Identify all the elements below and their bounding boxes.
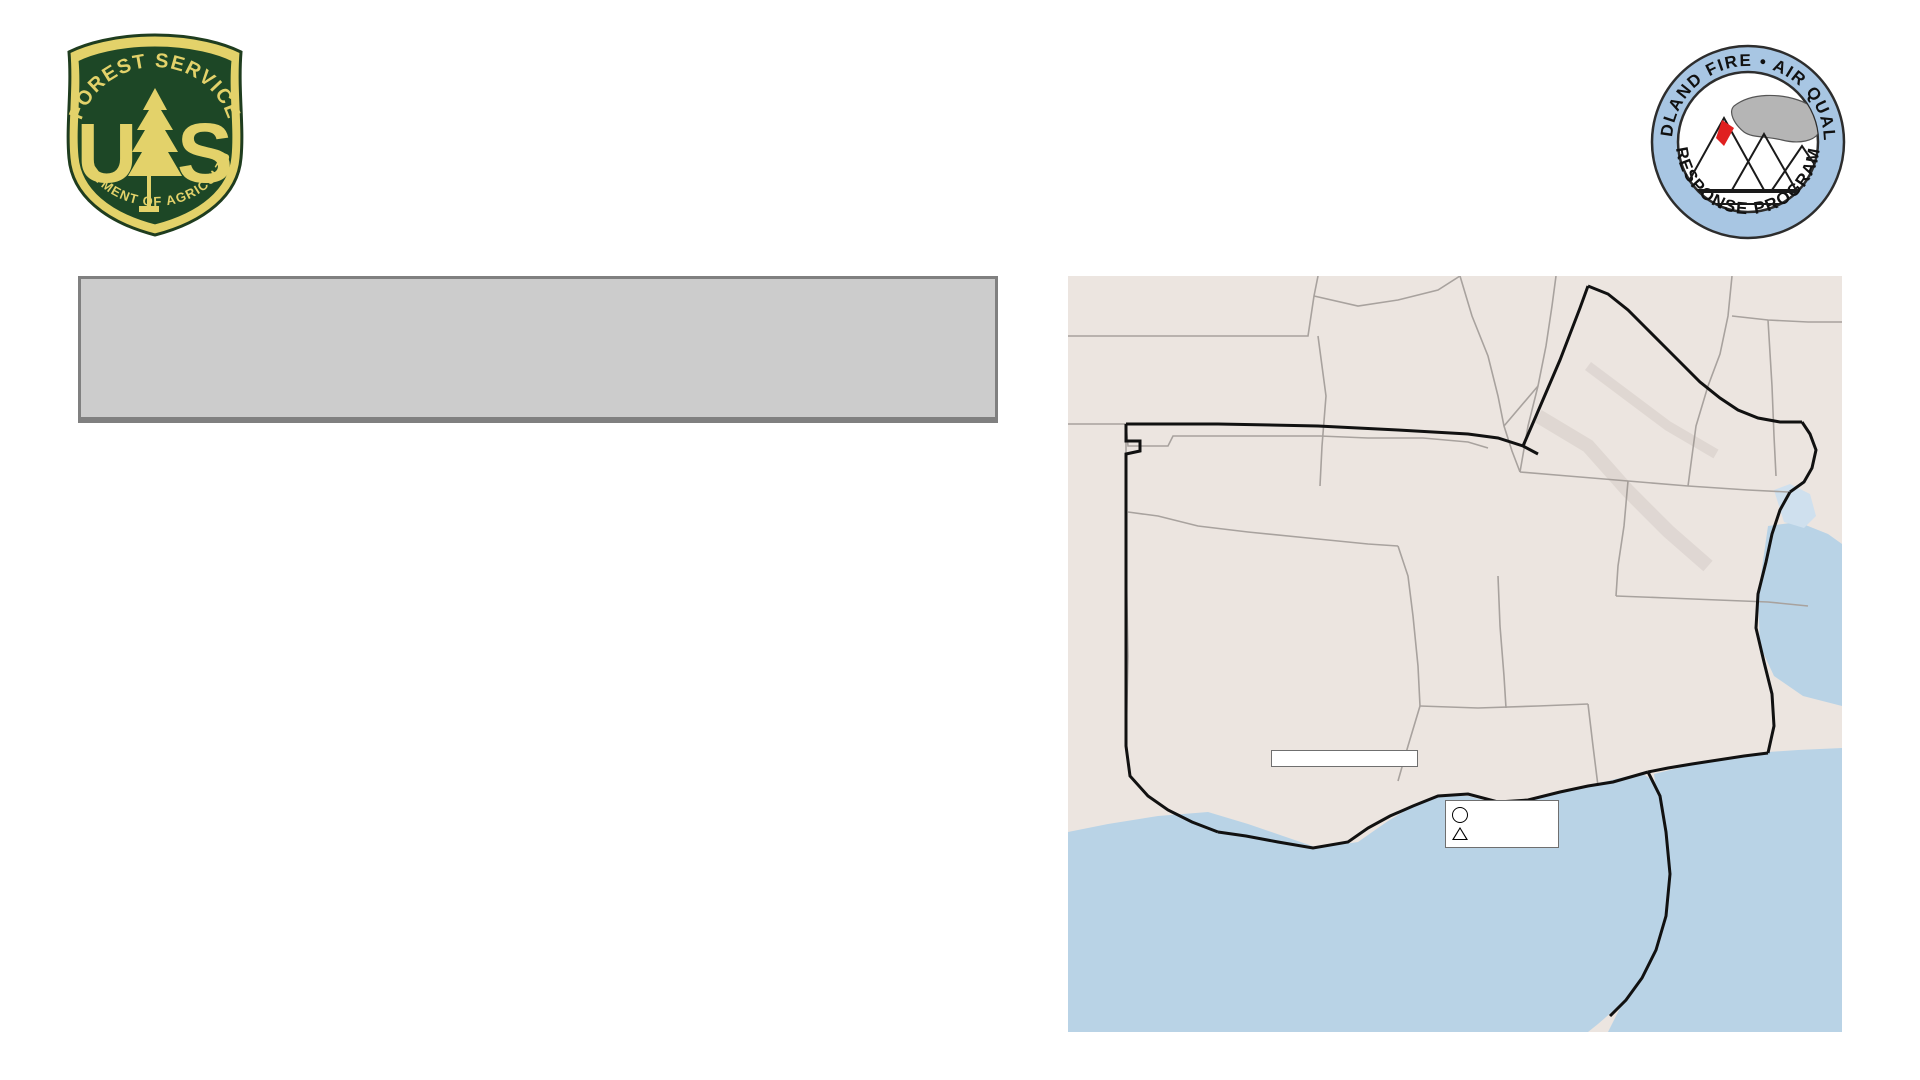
usfs-letter-s: S xyxy=(177,106,233,200)
top-nowcast-table xyxy=(78,276,998,423)
temporary-site-icon xyxy=(1452,807,1468,823)
usfs-logo: FOREST SERVICE DEPARTMENT OF AGRICULTURE… xyxy=(55,30,255,240)
legend-permanent xyxy=(1452,824,1552,843)
aqi-legend xyxy=(1271,750,1418,767)
map-canvas xyxy=(1068,276,1842,1032)
slide-root: FOREST SERVICE DEPARTMENT OF AGRICULTURE… xyxy=(0,0,1920,1080)
permanent-site-icon xyxy=(1452,827,1468,840)
legend-temporary xyxy=(1452,805,1552,824)
wfaqrp-logo: WILDLAND FIRE • AIR QUALITY RESPONSE PRO… xyxy=(1648,42,1848,242)
column-header-site xyxy=(81,279,611,419)
southern-region-map[interactable] xyxy=(1068,276,1842,1032)
table-header-row xyxy=(81,279,995,419)
column-header-pm-nowcast xyxy=(785,279,995,419)
column-header-state xyxy=(611,279,785,419)
usfs-letter-u: U xyxy=(77,106,138,200)
site-type-legend xyxy=(1445,800,1559,848)
